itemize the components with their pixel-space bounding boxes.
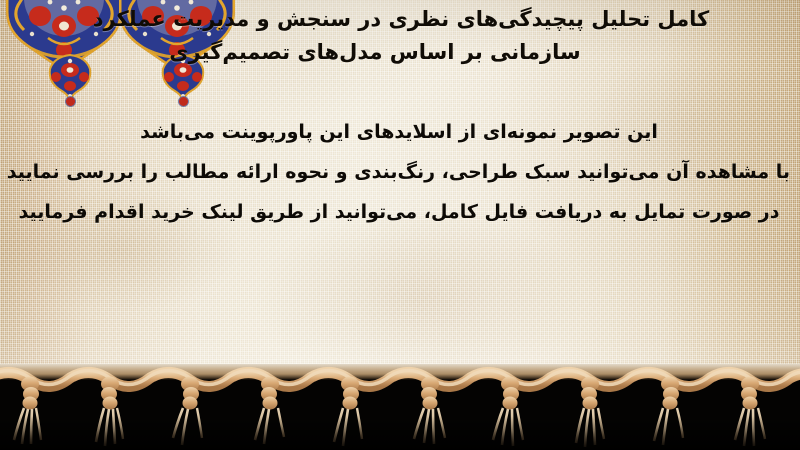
title-line-2: سازمانی بر اساس مدل‌های تصمیم‌گیری [10, 36, 792, 69]
slide-title: کامل تحلیل پیچیدگی‌های نظری در سنجش و مد… [10, 3, 792, 69]
title-line-1: کامل تحلیل پیچیدگی‌های نظری در سنجش و مد… [10, 3, 792, 36]
body-line-2: با مشاهده آن می‌توانید سبک طراحی، رنگ‌بن… [8, 152, 790, 192]
body-line-1: این تصویر نمونه‌ای از اسلایدهای این پاور… [8, 112, 790, 152]
slide-text-layer: کامل تحلیل پیچیدگی‌های نظری در سنجش و مد… [0, 0, 800, 380]
carpet-fringe-band [0, 364, 800, 450]
carpet-fringe-tassels-icon [0, 364, 800, 450]
body-line-3: در صورت تمایل به دریافت فایل کامل، می‌تو… [8, 192, 790, 232]
slide-canvas: کامل تحلیل پیچیدگی‌های نظری در سنجش و مد… [0, 0, 800, 450]
slide-body: این تصویر نمونه‌ای از اسلایدهای این پاور… [8, 112, 790, 232]
